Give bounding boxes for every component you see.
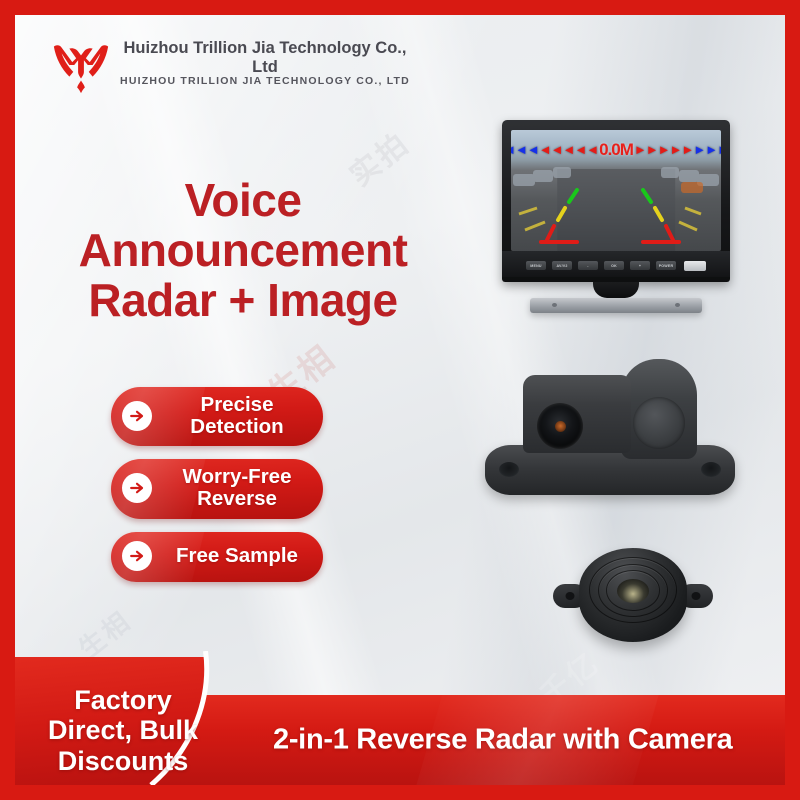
radar-sensor-face <box>633 397 685 449</box>
monitor-button-menu[interactable]: MENU <box>526 261 546 270</box>
screen-distance-overlay: ◄◄◄◄◄ ◄◄◄◄◄ ◄◄◄◄◄ 0.0M ►►►►► ►►►►► ►►►►► <box>511 141 721 158</box>
reverse-camera-monitor: ◄◄◄◄◄ ◄◄◄◄◄ ◄◄◄◄◄ 0.0M ►►►►► ►►►►► ►►►►►… <box>502 120 730 313</box>
monitor-swivel-neck <box>593 282 639 298</box>
piezo-buzzer-speaker <box>553 540 713 660</box>
distance-readout: 0.0M <box>599 141 633 158</box>
monitor-control-bar: MENU AV/V2 - OK + POWER <box>502 251 730 277</box>
arrow-group-red-left: ◄◄◄◄◄ <box>539 143 598 156</box>
monitor-button-minus[interactable]: - <box>578 261 598 270</box>
promo-line-1: Factory <box>15 685 231 716</box>
banner-title: 2-in-1 Reverse Radar with Camera <box>273 724 732 757</box>
arrow-right-circle-icon <box>122 473 152 503</box>
feature-pill-label: Worry-Free Reverse <box>161 466 313 509</box>
buzzer-center-hole-icon <box>617 579 649 603</box>
promo-corner-text: Factory Direct, Bulk Discounts <box>15 685 231 777</box>
arrow-right-circle-icon <box>122 401 152 431</box>
arrow-group-blue-left: ◄◄◄◄◄ <box>511 143 539 156</box>
feature-pill-precise-detection[interactable]: Precise Detection <box>111 387 323 446</box>
headline-line-2: Announcement <box>43 225 443 275</box>
arrow-right-circle-icon <box>122 541 152 571</box>
monitor-button-power[interactable]: POWER <box>656 261 676 270</box>
company-name: Huizhou Trillion Jia Technology Co., Ltd <box>120 39 410 78</box>
2-in-1-camera-radar-unit <box>485 351 735 503</box>
monitor-body: ◄◄◄◄◄ ◄◄◄◄◄ ◄◄◄◄◄ 0.0M ►►►►► ►►►►► ►►►►►… <box>502 120 730 282</box>
camera-lens-icon <box>537 403 583 449</box>
screw-hole-left-icon <box>499 462 519 477</box>
screw-hole-right-icon <box>701 462 721 477</box>
buzzer-body <box>579 548 687 642</box>
feature-pill-worry-free-reverse[interactable]: Worry-Free Reverse <box>111 459 323 518</box>
headline-line-1: Voice <box>43 175 443 225</box>
arrow-group-blue-right: ►►►►► <box>693 143 721 156</box>
arrow-group-red-right: ►►►►► <box>634 143 693 156</box>
poster-stage: 亿生相 实拍 千亿 生相 Huizhou Trillion Jia Techno… <box>15 15 785 785</box>
trillion-jia-wing-logo-icon <box>50 35 112 97</box>
poster-root: 亿生相 实拍 千亿 生相 Huizhou Trillion Jia Techno… <box>0 0 800 800</box>
company-name-caps: HUIZHOU TRILLION JIA TECHNOLOGY CO., LTD <box>120 75 410 87</box>
ir-sensor-window-icon <box>684 261 706 271</box>
monitor-base-plate <box>530 298 702 313</box>
promo-line-2: Direct, Bulk <box>15 715 231 746</box>
promo-line-3: Discounts <box>15 746 231 777</box>
monitor-button-av-v2[interactable]: AV/V2 <box>552 261 572 270</box>
feature-pill-label: Precise Detection <box>161 394 313 437</box>
feature-pill-free-sample[interactable]: Free Sample <box>111 532 323 582</box>
brand-header: Huizhou Trillion Jia Technology Co., Ltd… <box>50 33 470 105</box>
headline: Voice Announcement Radar + Image <box>43 175 443 325</box>
monitor-screen: ◄◄◄◄◄ ◄◄◄◄◄ ◄◄◄◄◄ 0.0M ►►►►► ►►►►► ►►►►► <box>511 130 721 251</box>
monitor-button-plus[interactable]: + <box>630 261 650 270</box>
brand-text-block: Huizhou Trillion Jia Technology Co., Ltd… <box>120 33 410 87</box>
headline-line-3: Radar + Image <box>43 275 443 325</box>
monitor-button-ok[interactable]: OK <box>604 261 624 270</box>
watermark-text-4: 生相 <box>70 601 138 666</box>
feature-pill-label: Free Sample <box>161 545 313 567</box>
feature-pill-list: Precise Detection Worry-Free Reverse Fre… <box>111 387 323 595</box>
